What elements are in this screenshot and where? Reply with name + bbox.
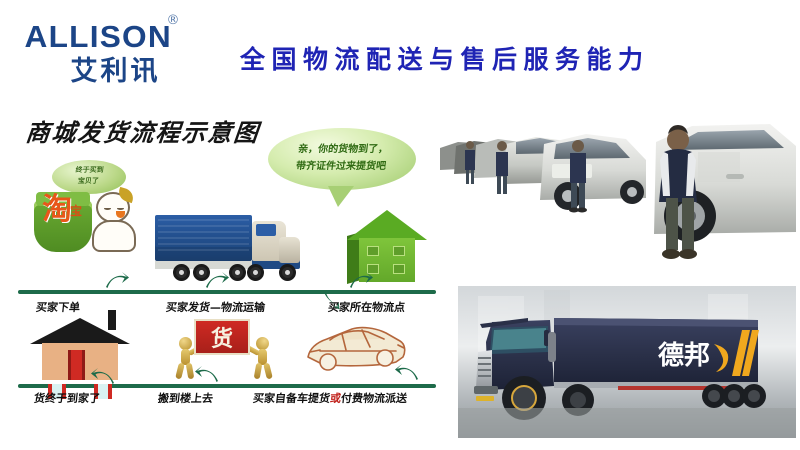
cartoon-eye-right xyxy=(117,207,124,210)
logistics-truck-photo: 德邦 xyxy=(458,286,796,438)
flow-arrow-icon xyxy=(104,270,130,290)
flow-arrow-icon xyxy=(348,270,374,290)
house-window xyxy=(393,246,405,256)
house-roof xyxy=(347,210,427,240)
house-window xyxy=(393,264,405,274)
flow-arrow-icon xyxy=(394,361,420,381)
slide-canvas: ALLISON ® 艾利讯 全国物流配送与售后服务能力 商城发货流程示意图 终于… xyxy=(0,0,800,450)
flow-arrow-icon xyxy=(318,291,344,311)
arrival-speech-bubble: 亲，你的货物到了， 带齐证件过来提货吧 xyxy=(268,128,416,190)
cartoon-body xyxy=(92,220,136,252)
arrival-speech-line2: 带齐证件过来提货吧 xyxy=(276,158,406,175)
logo-latin-text: ALLISON xyxy=(25,20,172,54)
arrival-speech-line1: 亲，你的货物到了， xyxy=(278,141,408,158)
registered-trademark-icon: ® xyxy=(166,13,179,28)
flow-arrow-icon xyxy=(90,365,116,385)
flow-label-ship-transport: 买家发货—物流运输 xyxy=(165,299,266,315)
porter-right-icon xyxy=(250,337,274,379)
diagram-title: 商城发货流程示意图 xyxy=(24,113,262,148)
house-window xyxy=(367,246,379,256)
buyer-order-illustration: 终于买到 宝贝了 淘 宝 xyxy=(28,160,146,276)
flow-arrow-icon xyxy=(194,363,220,383)
svg-text:德邦: 德邦 xyxy=(658,341,710,371)
truck-window xyxy=(256,224,276,236)
page-title: 全国物流配送与售后服务能力 xyxy=(240,40,770,76)
truck-wheel xyxy=(173,264,190,281)
cartoon-eye-left xyxy=(104,207,111,210)
order-speech-text: 终于买到 宝贝了 xyxy=(51,164,127,186)
arrival-speech-text: 亲，你的货物到了， 带齐证件过来提货吧 xyxy=(276,141,408,175)
truck-wheel xyxy=(279,264,296,281)
service-fleet-photo xyxy=(440,112,796,270)
truck-wheel xyxy=(229,264,246,281)
flow-arrow-icon xyxy=(204,270,230,290)
taobao-character-small: 宝 xyxy=(70,202,82,219)
porters-carrying-cargo-icon: 货 xyxy=(168,315,278,381)
cargo-box: 货 xyxy=(194,319,250,355)
flow-label-paid-delivery: 付费物流派送 xyxy=(340,392,407,405)
truck-hood xyxy=(279,237,300,263)
flow-rail-top xyxy=(18,290,436,294)
flow-label-self-pickup-main: 买家自备车提货 xyxy=(252,392,330,405)
company-logo: ALLISON ® 艾利讯 xyxy=(26,20,201,90)
cartoon-buyer-icon xyxy=(90,190,144,258)
flow-label-self-pickup: 买家自备车提货或付费物流派送 xyxy=(252,390,408,406)
cartoon-mouth xyxy=(116,211,125,218)
truck-wheel xyxy=(247,264,264,281)
home-roof xyxy=(30,318,130,344)
truck-trailer xyxy=(155,215,252,261)
taobao-character: 淘 xyxy=(42,184,72,228)
cargo-box-character: 货 xyxy=(196,321,248,353)
logo-chinese-text: 艾利讯 xyxy=(26,56,201,87)
home-door xyxy=(68,350,85,380)
flow-label-move-upstairs: 搬到楼上去 xyxy=(157,390,214,406)
flow-rail-bottom xyxy=(18,384,436,388)
order-speech-line1: 终于买到 xyxy=(52,164,127,175)
shopping-basket-icon: 淘 宝 xyxy=(34,200,92,252)
flow-label-arrived-home: 货终于到家了 xyxy=(33,390,101,406)
